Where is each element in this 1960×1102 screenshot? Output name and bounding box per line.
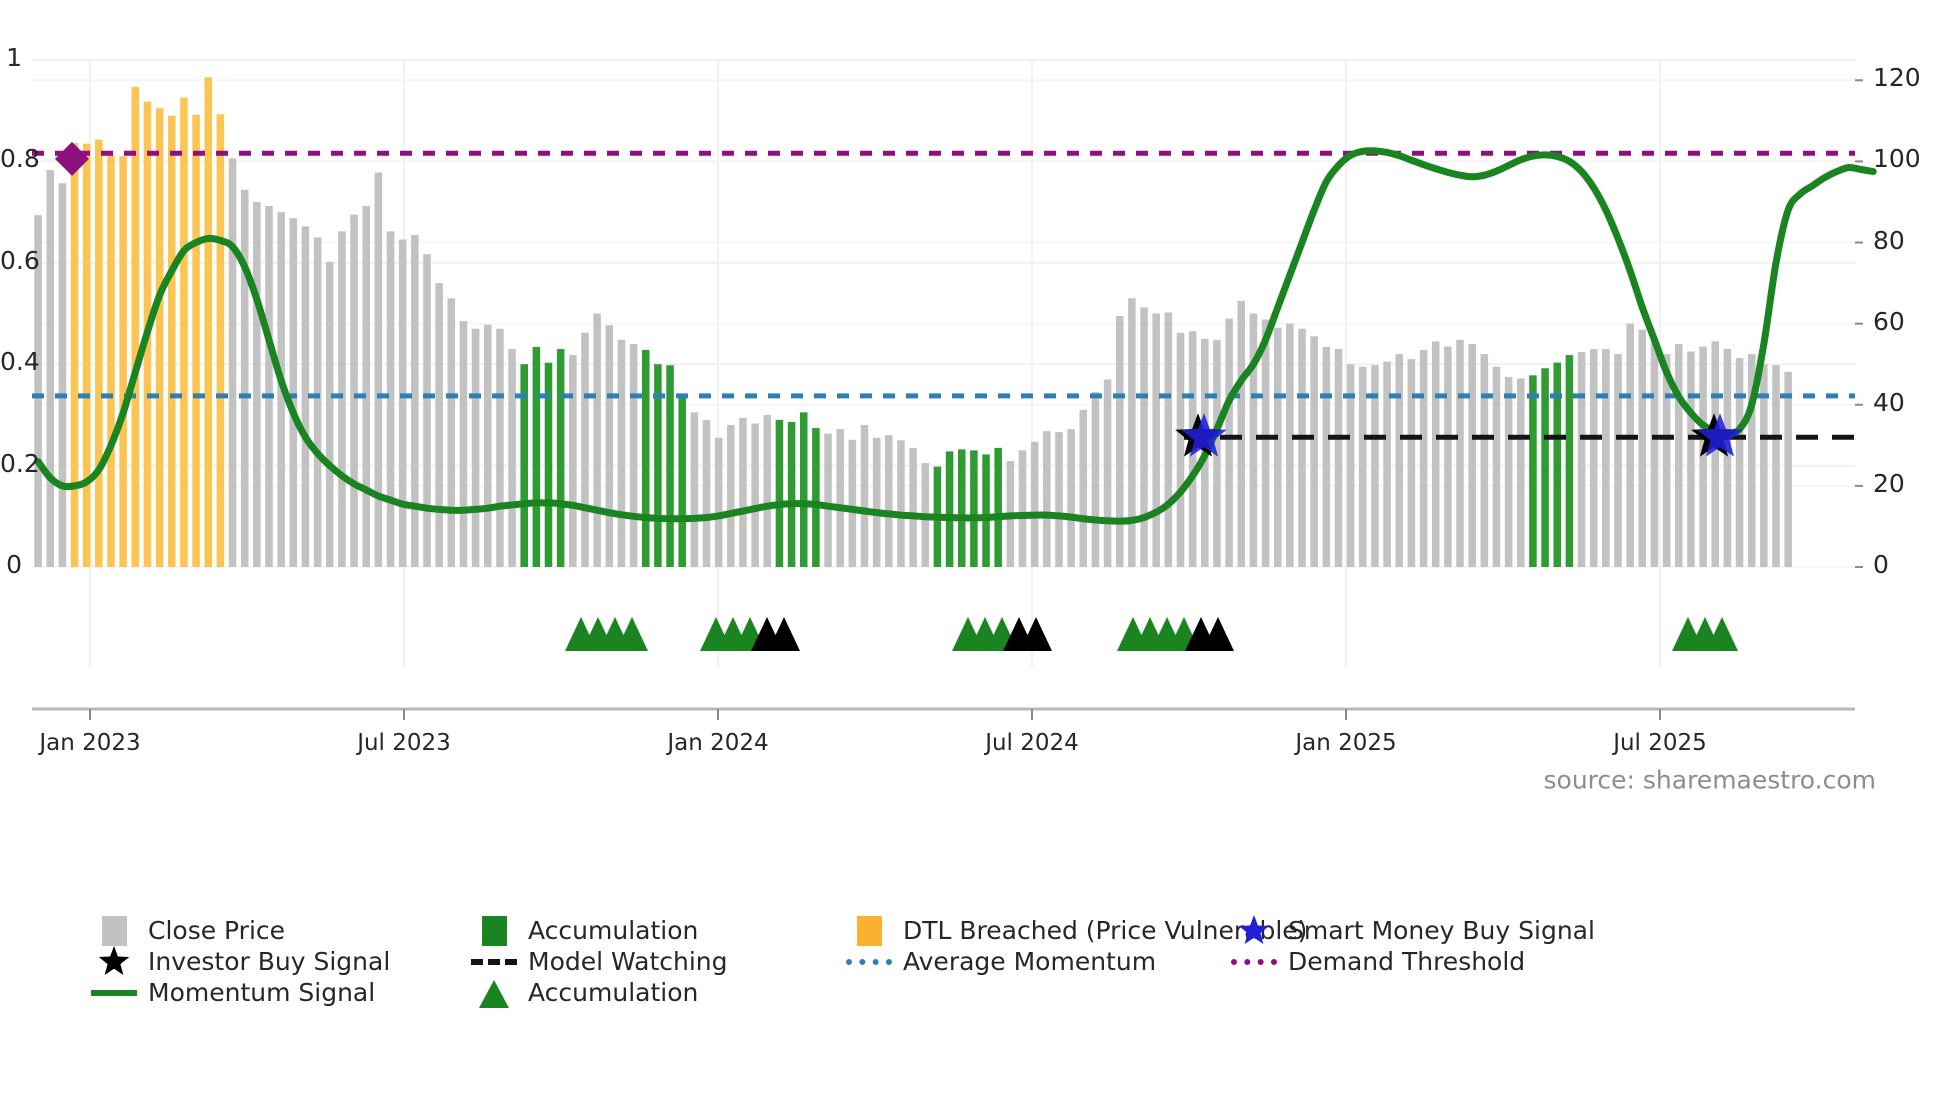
bar-accum [812, 428, 820, 567]
bar-close [849, 440, 857, 567]
bar-close [1019, 450, 1027, 567]
bar-accum [946, 451, 954, 567]
bar-close [1274, 328, 1282, 567]
bar-close [265, 206, 273, 567]
bar-accum [545, 363, 553, 567]
bar-close [1651, 339, 1659, 567]
bar-close [1067, 429, 1075, 567]
x-axis-tick-label: Jan 2024 [667, 730, 768, 756]
bar-close [1055, 432, 1063, 567]
legend-accumulation-bar[interactable]: Accumulation [470, 915, 698, 946]
legend-close-price[interactable]: Close Price [90, 915, 285, 946]
bar-close [1128, 298, 1136, 567]
bar-close [1152, 314, 1160, 568]
bar-close [1104, 379, 1112, 567]
y-axis-right-tick-label: 80 [1873, 226, 1905, 255]
bar-close [1784, 372, 1792, 567]
bar-dtl [204, 77, 212, 567]
bar-close [885, 435, 893, 567]
bar-close [1432, 341, 1440, 567]
bar-close [1116, 316, 1124, 567]
bar-close [836, 429, 844, 567]
bar-close [375, 173, 383, 567]
legend-item-label: Demand Threshold [1288, 947, 1525, 976]
bar-close [1505, 377, 1513, 567]
bar-close [1165, 312, 1173, 567]
bar-dtl [119, 156, 127, 567]
bar-close [1699, 346, 1707, 567]
bar-close [1456, 340, 1464, 567]
bar-close [1590, 349, 1598, 567]
bar-close [1092, 392, 1100, 567]
bar-dtl [132, 87, 140, 567]
legend-triangle-swatch-icon [470, 977, 518, 1008]
legend-item-label: Accumulation [528, 916, 698, 945]
source-watermark: source: sharemaestro.com [1544, 766, 1877, 795]
legend-item-label: Accumulation [528, 978, 698, 1007]
bar-close [751, 424, 759, 567]
y-axis-left-tick-label: 0.6 [0, 246, 22, 275]
bar-close [423, 254, 431, 567]
line-icon [1231, 959, 1277, 965]
bar-close [241, 190, 249, 567]
bar-close [472, 329, 480, 567]
bar-close [703, 420, 711, 567]
x-axis-tick-label: Jan 2023 [39, 730, 140, 756]
bar-close [1517, 378, 1525, 567]
bar-close [1772, 365, 1780, 567]
bar-close [581, 333, 589, 567]
bar-close [1493, 367, 1501, 567]
bar-dtl [192, 115, 200, 567]
legend-item-label: Model Watching [528, 947, 728, 976]
bar-close [1310, 336, 1318, 567]
bar-close [727, 425, 735, 567]
bar-close [1420, 350, 1428, 567]
bar-close [46, 170, 54, 567]
bar-close [1031, 442, 1039, 567]
y-axis-left-tick-label: 0.4 [0, 347, 22, 376]
bar-close [861, 425, 869, 567]
bar-accum [642, 350, 650, 567]
legend-star-swatch-icon [1230, 915, 1278, 946]
bar-close [630, 344, 638, 567]
line-icon [91, 990, 137, 996]
y-axis-right-tick-label: 20 [1873, 469, 1905, 498]
legend-line-swatch-icon [90, 977, 138, 1008]
bar-close [314, 237, 322, 567]
legend-item-label: Momentum Signal [148, 978, 375, 1007]
x-axis-tick-label: Jan 2025 [1295, 730, 1396, 756]
bar-accum [994, 448, 1002, 567]
bar-accum [788, 422, 796, 567]
bar-close [508, 349, 516, 567]
bar-close [362, 206, 370, 567]
y-axis-left-tick-label: 0 [0, 550, 22, 579]
bar-close [715, 438, 723, 567]
square-icon [482, 916, 507, 946]
bar-close [764, 415, 772, 567]
y-axis-left-tick-label: 1 [0, 43, 22, 72]
bar-close [1286, 324, 1294, 567]
x-axis-tick-label: Jul 2025 [1613, 730, 1707, 756]
bar-close [1614, 354, 1622, 567]
y-axis-right-tick-label: 100 [1873, 144, 1921, 173]
bar-close [1444, 346, 1452, 567]
y-axis-left-tick-label: 0.2 [0, 449, 22, 478]
bar-accum [557, 349, 565, 567]
bar-accum [958, 449, 966, 567]
bar-close [1262, 320, 1270, 567]
bar-close [1080, 410, 1088, 567]
bar-close [1383, 362, 1391, 567]
bar-close [909, 448, 917, 567]
legend-line-swatch-icon [1230, 946, 1278, 977]
bar-close [1468, 344, 1476, 567]
bar-close [1687, 352, 1695, 567]
legend-item-label: Smart Money Buy Signal [1288, 916, 1595, 945]
bar-close [1408, 359, 1416, 567]
bar-close [1395, 354, 1403, 567]
bar-close [606, 325, 614, 567]
bar-close [1639, 330, 1647, 567]
bar-dtl [180, 98, 188, 567]
legend-square-swatch-icon [470, 915, 518, 946]
x-axis-tick-label: Jul 2024 [985, 730, 1079, 756]
bar-accum [1529, 375, 1537, 567]
bar-close [1578, 352, 1586, 567]
y-axis-right-tick-label: 40 [1873, 388, 1905, 417]
bar-close [1140, 307, 1148, 567]
bar-close [399, 239, 407, 567]
legend-investor-buy-signal[interactable]: Investor Buy Signal [90, 946, 390, 977]
bar-accum [776, 420, 784, 567]
bar-close [1711, 341, 1719, 567]
bar-accum [970, 450, 978, 567]
bar-close [484, 325, 492, 567]
legend-square-swatch-icon [90, 915, 138, 946]
star-icon [97, 945, 131, 979]
chart-canvas: 00.20.40.60.81 020406080100120 Jan 2023J… [0, 0, 1960, 1102]
y-axis-right-tick-label: 120 [1873, 63, 1921, 92]
y-axis-right-tick-label: 60 [1873, 307, 1905, 336]
square-icon [857, 916, 882, 946]
bar-close [460, 321, 468, 567]
bar-close [350, 215, 358, 567]
bar-close [1675, 344, 1683, 567]
bar-accum [666, 365, 674, 567]
legend-momentum-signal[interactable]: Momentum Signal [90, 977, 375, 1008]
bar-close [824, 434, 832, 567]
bar-close [1481, 354, 1489, 567]
bar-close [1736, 358, 1744, 567]
bar-close [1323, 347, 1331, 567]
bar-dtl [107, 155, 115, 567]
bar-close [569, 355, 577, 567]
bar-close [873, 438, 881, 567]
bar-accum [1541, 368, 1549, 567]
bar-accum [800, 412, 808, 567]
x-axis-tick-label: Jul 2023 [357, 730, 451, 756]
y-axis-right-tick-label: 0 [1873, 550, 1889, 579]
bar-close [1237, 301, 1245, 567]
bar-close [897, 440, 905, 567]
bar-close [739, 418, 747, 567]
bar-close [1335, 349, 1343, 567]
legend-accumulation-triangle[interactable]: Accumulation [470, 977, 698, 1008]
star-icon [1237, 914, 1271, 948]
bar-close [448, 298, 456, 567]
legend-demand-threshold[interactable]: Demand Threshold [1230, 946, 1525, 977]
bar-close [1250, 314, 1258, 568]
bar-close [1043, 431, 1051, 567]
bar-close [1724, 349, 1732, 567]
bar-close [411, 235, 419, 567]
bar-close [253, 202, 261, 567]
bar-close [593, 314, 601, 568]
bar-close [1602, 349, 1610, 567]
legend-item-label: Investor Buy Signal [148, 947, 390, 976]
bar-accum [982, 454, 990, 567]
line-icon [846, 959, 892, 965]
bar-dtl [95, 140, 103, 567]
line-icon [471, 959, 517, 965]
bar-close [290, 218, 298, 567]
bar-dtl [71, 143, 79, 567]
legend-smart-money-buy-signal[interactable]: Smart Money Buy Signal [1230, 915, 1595, 946]
bar-dtl [168, 116, 176, 567]
bar-close [496, 329, 504, 567]
bar-accum [1566, 355, 1574, 567]
bar-dtl [217, 114, 225, 567]
legend-item-label: Average Momentum [903, 947, 1156, 976]
bar-accum [533, 347, 541, 567]
y-axis-left-tick-label: 0.8 [0, 144, 22, 173]
bar-accum [678, 396, 686, 567]
bar-close [229, 158, 237, 567]
legend-line-swatch-icon [845, 946, 893, 977]
bar-dtl [156, 108, 164, 567]
bar-close [1177, 333, 1185, 567]
bar-close [326, 262, 334, 567]
bar-dtl [83, 144, 91, 567]
bar-close [1359, 367, 1367, 567]
triangle-icon [477, 976, 511, 1010]
bar-close [691, 412, 699, 567]
bar-close [618, 340, 626, 567]
legend-item-label: Close Price [148, 916, 285, 945]
legend-star-swatch-icon [90, 946, 138, 977]
bar-close [387, 231, 395, 567]
bar-close [1225, 319, 1233, 567]
legend-model-watching[interactable]: Model Watching [470, 946, 728, 977]
legend-square-swatch-icon [845, 915, 893, 946]
bar-close [59, 183, 67, 567]
legend-average-momentum[interactable]: Average Momentum [845, 946, 1156, 977]
bar-close [435, 283, 443, 567]
square-icon [102, 916, 127, 946]
bar-accum [1553, 363, 1561, 567]
legend-line-swatch-icon [470, 946, 518, 977]
bar-close [1626, 324, 1634, 567]
bar-close [338, 231, 346, 567]
bar-close [1298, 329, 1306, 567]
